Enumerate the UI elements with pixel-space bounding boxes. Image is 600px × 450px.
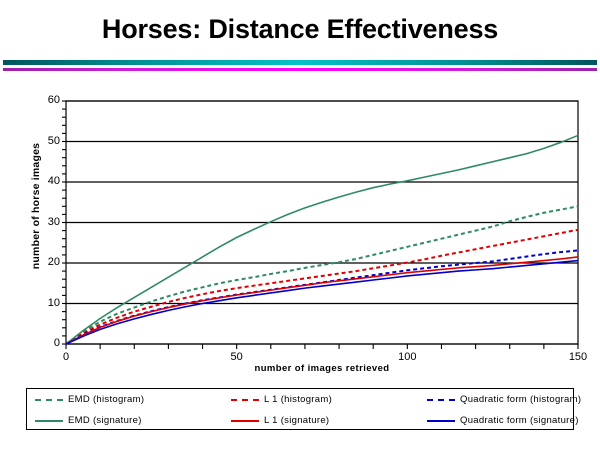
plot-svg xyxy=(0,80,600,380)
legend-label: Quadratic form (histogram) xyxy=(460,394,581,405)
legend-item[interactable]: L 1 (histogram) xyxy=(223,389,419,410)
legend-line-swatch xyxy=(427,416,455,426)
legend-line-swatch xyxy=(35,395,63,405)
legend-label: EMD (signature) xyxy=(68,415,142,426)
legend-item[interactable]: EMD (histogram) xyxy=(27,389,223,410)
legend-line-swatch xyxy=(231,416,259,426)
legend-label: L 1 (histogram) xyxy=(264,394,332,405)
legend-item[interactable]: EMD (signature) xyxy=(27,410,223,431)
chart-legend: EMD (histogram)L 1 (histogram)Quadratic … xyxy=(26,388,574,430)
y-tick-label: 40 xyxy=(32,175,60,187)
title-rule-magenta xyxy=(3,68,597,71)
legend-line-swatch xyxy=(427,395,455,405)
x-tick-label: 150 xyxy=(558,351,598,363)
chart: number of horse images number of images … xyxy=(0,80,600,380)
legend-row: EMD (histogram)L 1 (histogram)Quadratic … xyxy=(27,389,573,410)
series-line-5 xyxy=(66,261,578,344)
x-tick-label: 100 xyxy=(387,351,427,363)
page-title: Horses: Distance Effectiveness xyxy=(0,14,600,45)
y-tick-label: 20 xyxy=(32,256,60,268)
series-line-3 xyxy=(66,135,578,344)
x-tick-label: 0 xyxy=(46,351,86,363)
series-line-4 xyxy=(66,257,578,344)
y-tick-label: 0 xyxy=(32,337,60,349)
x-tick-label: 50 xyxy=(217,351,257,363)
y-tick-label: 30 xyxy=(32,216,60,228)
legend-item[interactable]: L 1 (signature) xyxy=(223,410,419,431)
legend-label: Quadratic form (signature) xyxy=(460,415,579,426)
y-tick-label: 60 xyxy=(32,94,60,106)
legend-label: EMD (histogram) xyxy=(68,394,144,405)
title-block: Horses: Distance Effectiveness xyxy=(0,0,600,78)
legend-row: EMD (signature)L 1 (signature)Quadratic … xyxy=(27,410,573,431)
legend-line-swatch xyxy=(35,416,63,426)
legend-line-swatch xyxy=(231,395,259,405)
title-rule-teal xyxy=(3,60,597,65)
y-tick-label: 10 xyxy=(32,297,60,309)
legend-item[interactable]: Quadratic form (signature) xyxy=(419,410,573,431)
y-tick-label: 50 xyxy=(32,135,60,147)
legend-item[interactable]: Quadratic form (histogram) xyxy=(419,389,573,410)
legend-label: L 1 (signature) xyxy=(264,415,329,426)
